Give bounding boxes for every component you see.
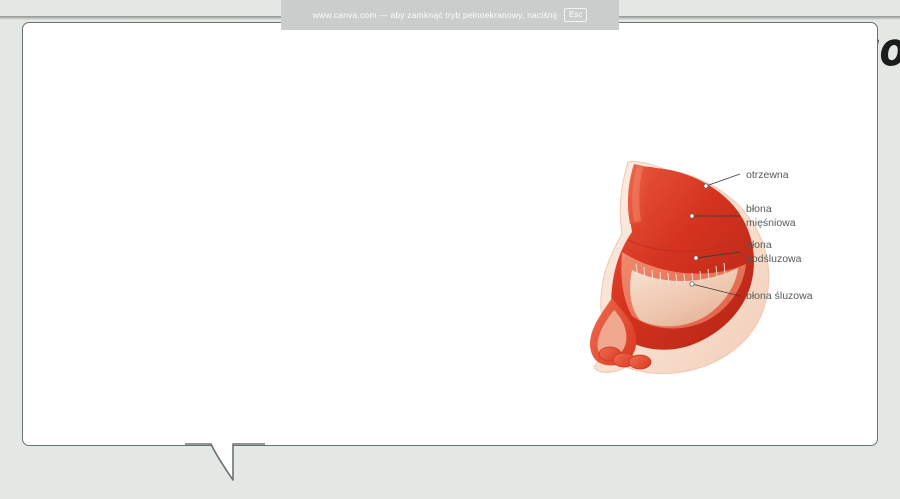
dot-sluzowa xyxy=(690,282,694,286)
figure-label-otrzewna: otrzewna xyxy=(746,169,789,181)
dot-miesniowa xyxy=(690,214,694,218)
leader-otrzewna xyxy=(706,174,740,186)
fullscreen-hint-text: www.canva.com — aby zamknąć tryb pełnoek… xyxy=(313,10,557,20)
stomach-diagram: otrzewna błona mięśniowa błona podśluzow… xyxy=(588,148,878,378)
dot-podsluzowa xyxy=(694,256,698,260)
fullscreen-hint-banner: www.canva.com — aby zamknąć tryb pełnoek… xyxy=(281,0,619,30)
figure-label-miesniowa-line2: mięśniowa xyxy=(746,217,796,229)
dot-otrzewna xyxy=(704,184,708,188)
esc-key-badge: Esc xyxy=(564,8,587,22)
figure-label-podsluzowa-line2: podśluzowa xyxy=(746,253,802,265)
figure-label-miesniowa-line1: błona xyxy=(746,203,772,215)
speech-bubble-tail xyxy=(185,443,265,485)
figure-label-podsluzowa-line1: błona xyxy=(746,239,772,251)
figure-label-sluzowa: błona śluzowa xyxy=(746,290,813,302)
